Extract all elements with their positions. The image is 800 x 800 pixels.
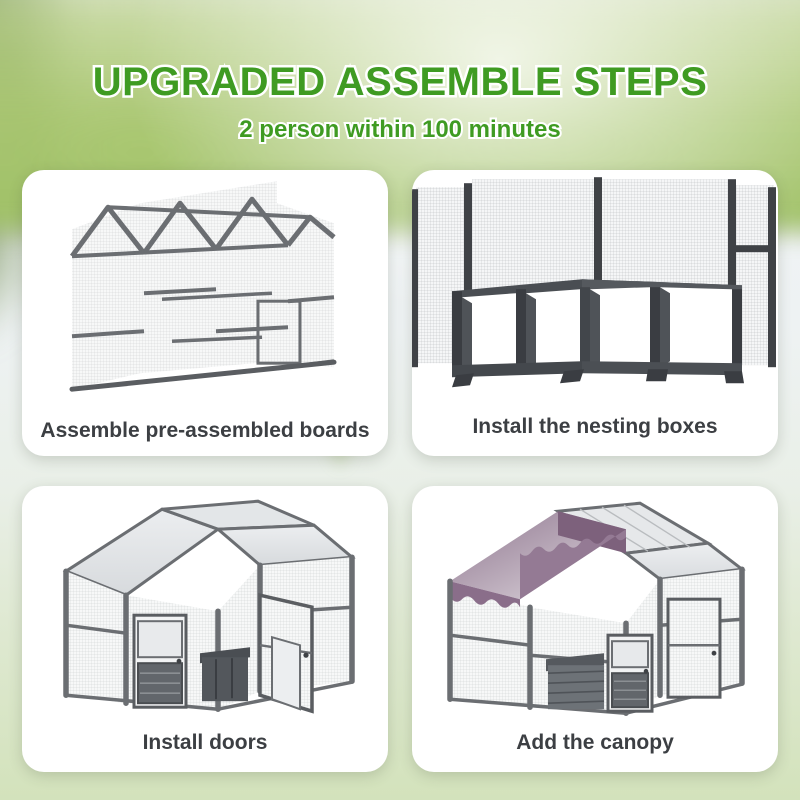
step-card-4: Add the canopy <box>412 486 778 772</box>
step-card-3: Install doors <box>22 486 388 772</box>
steps-grid: Assemble pre-assembled boards <box>22 170 778 778</box>
front-door-4 <box>608 635 652 711</box>
canopy <box>450 511 626 608</box>
step-3-illustration <box>22 486 388 730</box>
page-title: UPGRADED ASSEMBLE STEPS <box>0 62 800 102</box>
open-door-handle <box>303 653 308 658</box>
step-3-caption: Install doors <box>22 730 388 772</box>
nesting-boxes-4 <box>546 653 604 709</box>
step-4-caption: Add the canopy <box>412 730 778 772</box>
header: UPGRADED ASSEMBLE STEPS 2 person within … <box>0 0 800 142</box>
step-card-1: Assemble pre-assembled boards <box>22 170 388 456</box>
open-door <box>260 595 312 711</box>
step-1-caption: Assemble pre-assembled boards <box>22 418 388 456</box>
step-2-illustration <box>412 170 778 414</box>
nesting-box-unit <box>452 279 744 387</box>
right-door-handle <box>712 651 717 656</box>
right-door-4 <box>668 599 720 697</box>
step-4-illustration <box>412 486 778 730</box>
step-1-illustration <box>22 170 388 418</box>
step-2-caption: Install the nesting boxes <box>412 414 778 456</box>
nesting-boxes-inside <box>200 647 250 701</box>
step-card-2: Install the nesting boxes <box>412 170 778 456</box>
page-subtitle: 2 person within 100 minutes <box>0 118 800 142</box>
front-door <box>134 615 186 707</box>
front-door-handle <box>177 659 182 664</box>
front-door-handle-4 <box>644 669 649 674</box>
